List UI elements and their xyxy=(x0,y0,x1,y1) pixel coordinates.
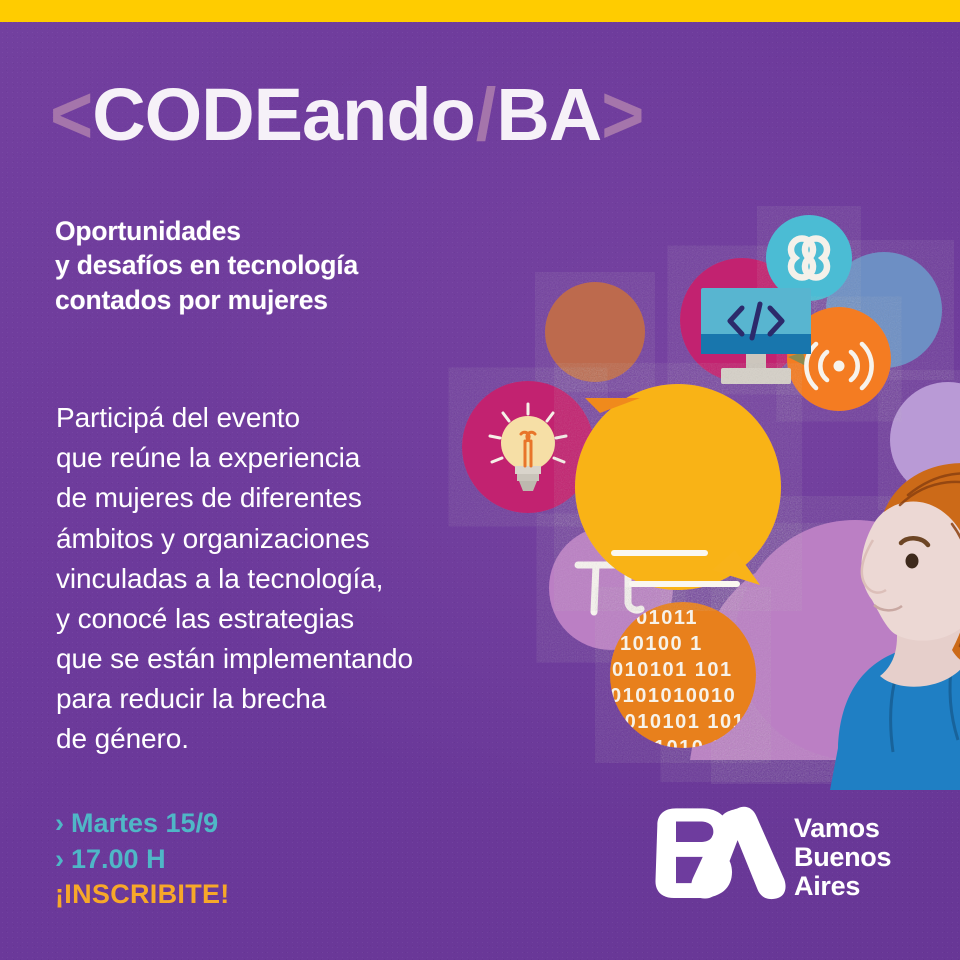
body-line-9: de género. xyxy=(56,719,413,759)
body-line-8: para reducir la brecha xyxy=(56,679,413,719)
ba-slogan-line-3: Aires xyxy=(794,872,891,901)
headline-line-2: y desafíos en tecnología xyxy=(55,248,358,282)
body-line-6: y conocé las estrategias xyxy=(56,599,413,639)
body-line-4: ámbitos y organizaciones xyxy=(56,519,413,559)
event-time: 17.00 H xyxy=(71,844,166,874)
ba-slogan-line-2: Buenos xyxy=(794,843,891,872)
body-line-7: que se están implementando xyxy=(56,639,413,679)
headline-block: Oportunidades y desafíos en tecnología c… xyxy=(55,214,358,317)
body-line-2: que reúne la experiencia xyxy=(56,438,413,478)
event-details: ›Martes 15/9 ›17.00 H ¡INSCRIBITE! xyxy=(55,806,230,913)
slash-icon: / xyxy=(475,78,497,152)
chevron-right-icon: › xyxy=(55,806,64,842)
headline-line-1: Oportunidades xyxy=(55,214,358,248)
register-cta[interactable]: ¡INSCRIBITE! xyxy=(55,877,230,913)
ba-government-logo: Vamos Buenos Aires xyxy=(648,806,928,924)
top-accent-bar xyxy=(0,0,960,22)
body-line-5: vinculadas a la tecnología, xyxy=(56,559,413,599)
headline-line-3: contados por mujeres xyxy=(55,283,358,317)
body-line-3: de mujeres de diferentes xyxy=(56,478,413,518)
angle-bracket-close-icon: > xyxy=(601,74,643,157)
ba-monogram-icon xyxy=(648,806,788,906)
angle-bracket-open-icon: < xyxy=(50,74,92,157)
event-date: Martes 15/9 xyxy=(71,808,218,838)
ba-slogan: Vamos Buenos Aires xyxy=(794,814,891,901)
brand-wordmark: <CODEando/BA> xyxy=(50,78,643,152)
body-line-1: Participá del evento xyxy=(56,398,413,438)
wordmark-ba: BA xyxy=(496,73,601,156)
event-time-row: ›17.00 H xyxy=(55,842,230,878)
ba-slogan-line-1: Vamos xyxy=(794,814,891,843)
body-paragraph: Participá del evento que reúne la experi… xyxy=(56,398,413,760)
chevron-right-icon: › xyxy=(55,842,64,878)
event-date-row: ›Martes 15/9 xyxy=(55,806,230,842)
wordmark-codeando: CODEando xyxy=(92,73,475,156)
poster-canvas: 01011 10100 1 010101 101 0101010010 1010… xyxy=(0,0,960,960)
